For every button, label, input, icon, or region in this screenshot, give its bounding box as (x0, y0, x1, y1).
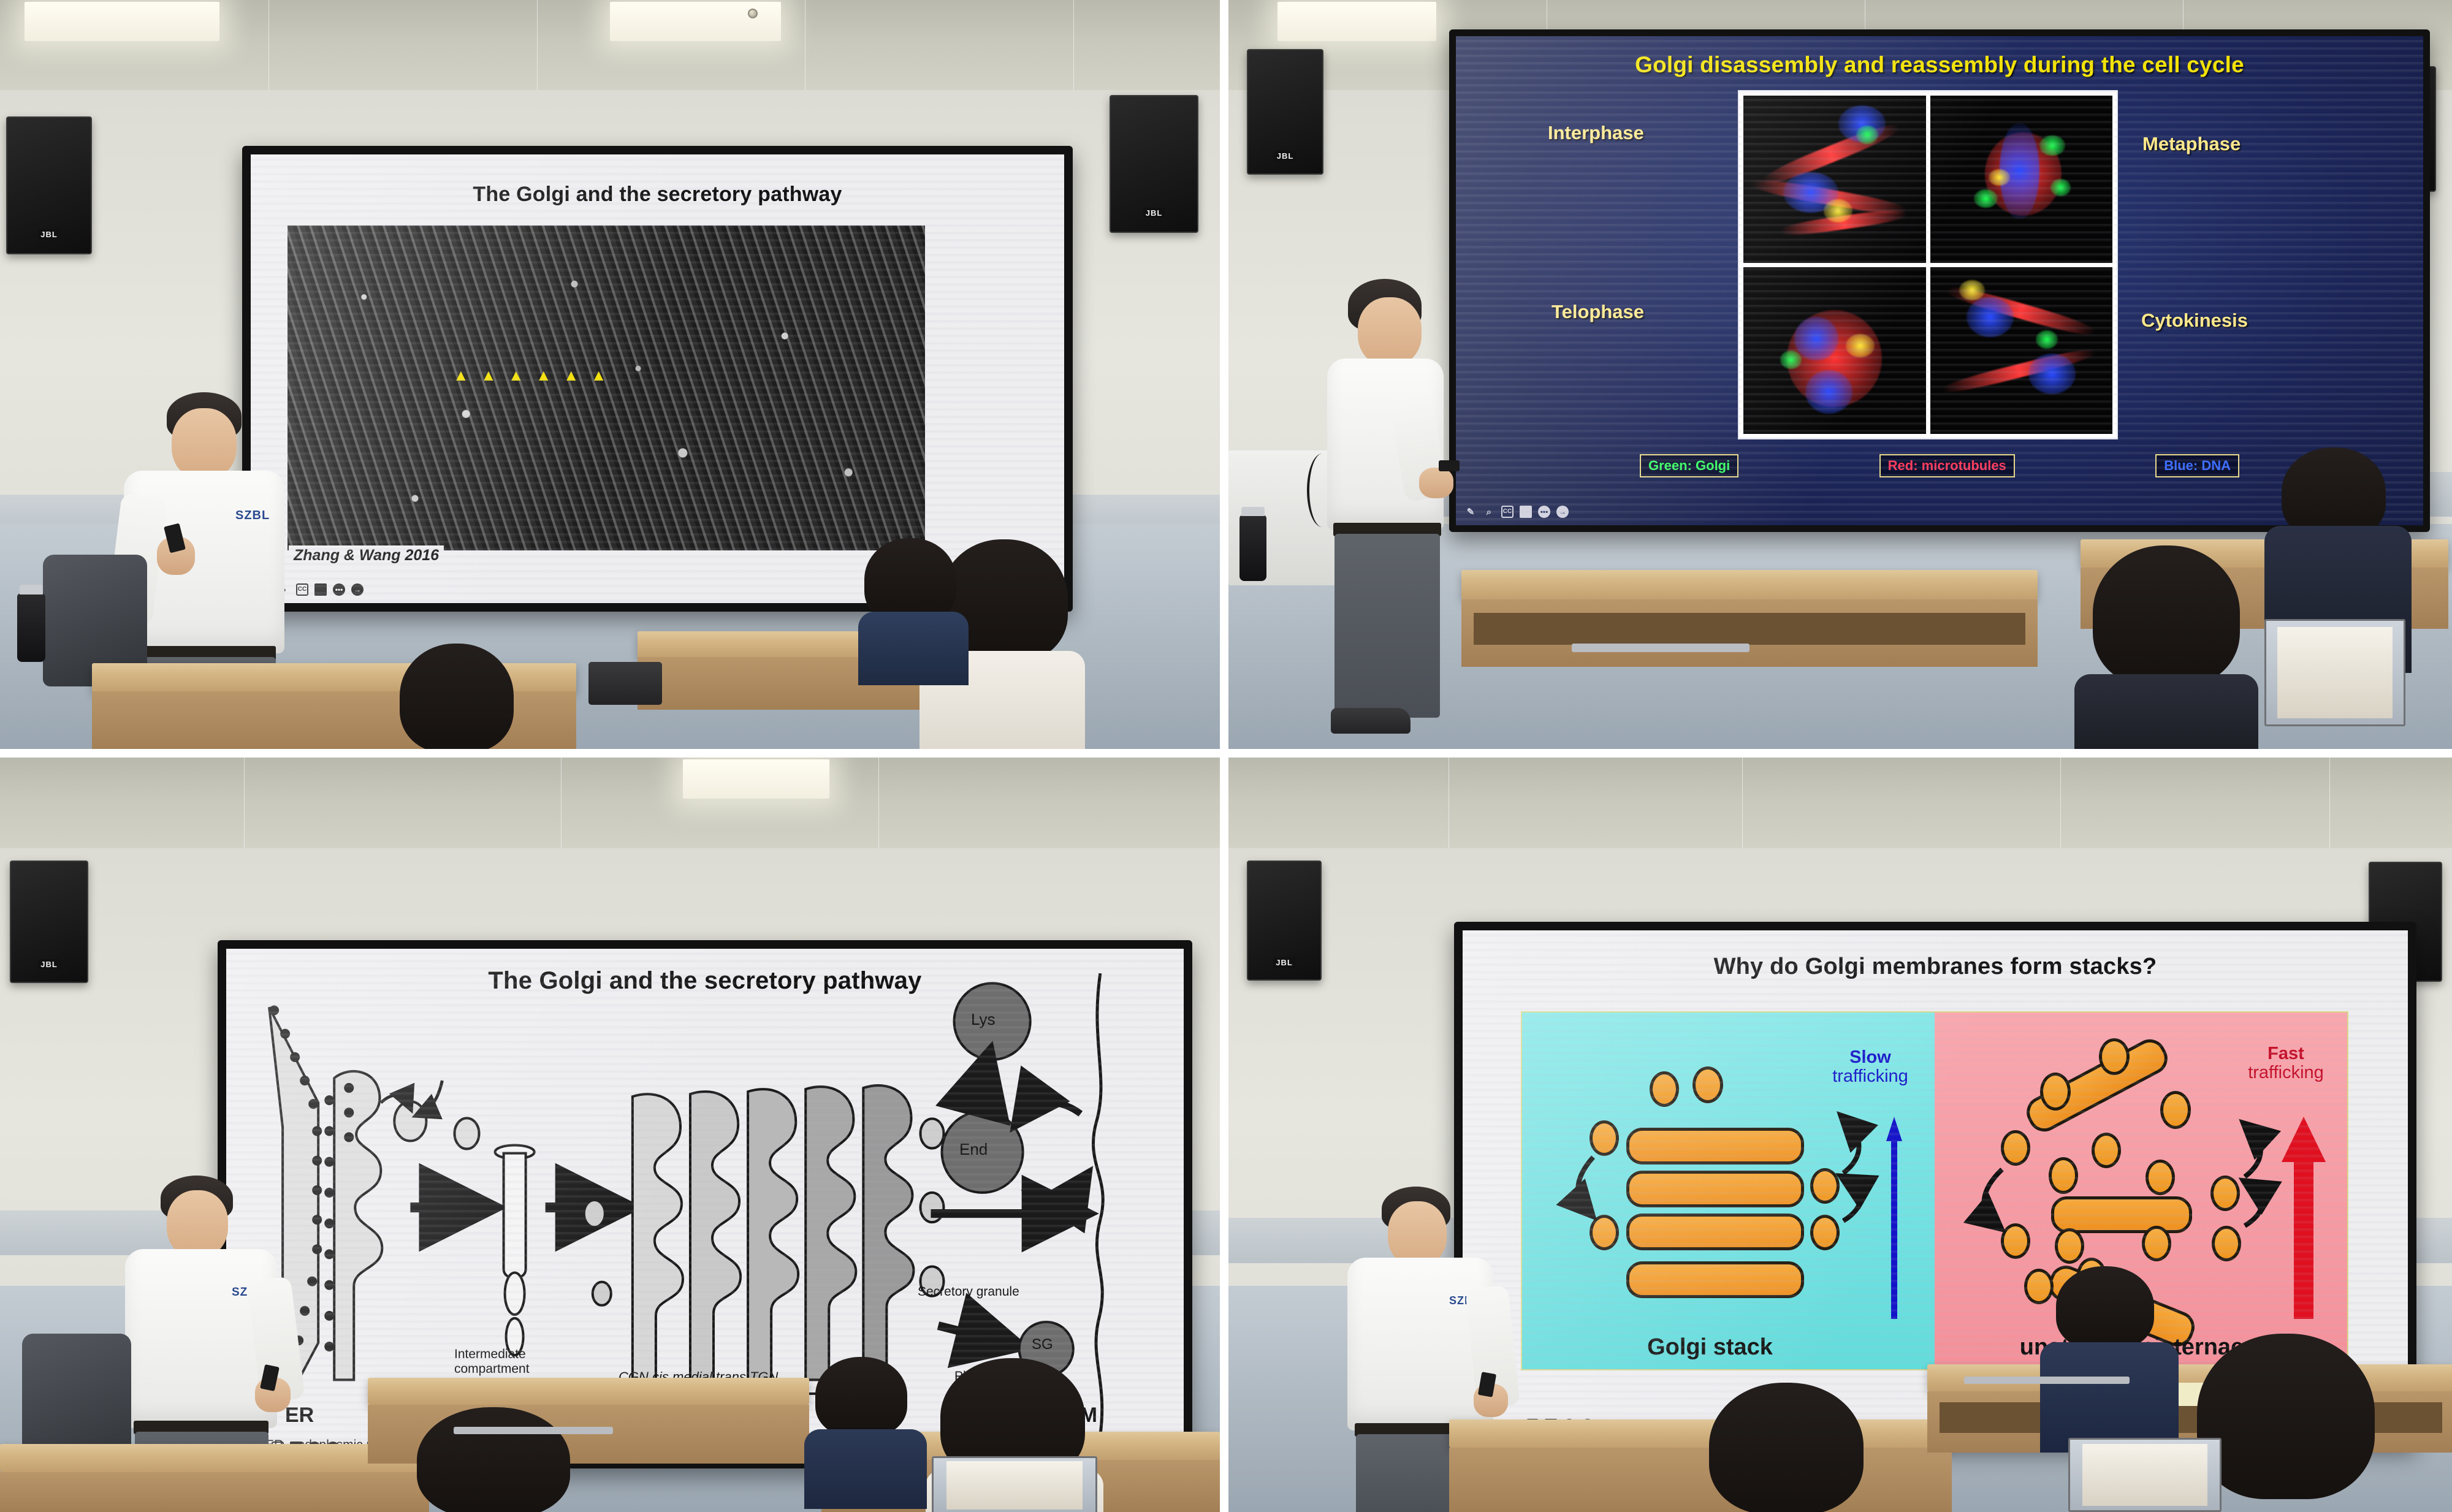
laptop-bl[interactable] (932, 1456, 1097, 1512)
student-hair (2093, 545, 2240, 686)
slide-title-tl: The Golgi and the secretory pathway (251, 183, 1064, 207)
presenter-tr (1299, 279, 1471, 745)
speaker-right-tl: JBL (1110, 95, 1198, 233)
student-br-3 (2044, 1266, 2179, 1450)
micrograph-metaphase (1930, 96, 2113, 263)
phase-label-cytokinesis: Cytokinesis (2141, 310, 2248, 332)
student-body (858, 612, 969, 685)
chair-frame-tr (1572, 644, 1750, 652)
fast-label-line2: trafficking (2222, 1063, 2347, 1082)
presenter-head (167, 1190, 228, 1258)
student-bl-1 (405, 1407, 582, 1512)
fast-label-line1: Fast (2222, 1044, 2347, 1063)
ceiling-bl (0, 758, 1220, 856)
student-br-1 (1694, 1383, 1878, 1512)
laptop-document (2082, 1444, 2208, 1506)
gutter-horizontal (0, 749, 2452, 758)
more-options-icon[interactable]: ••• (333, 583, 345, 596)
student-hair (1709, 1383, 1864, 1512)
laptop-br[interactable] (2068, 1438, 2222, 1512)
student-bl-3 (809, 1357, 926, 1498)
label-secretory-granule-abbr: SG (1032, 1336, 1053, 1353)
panel-top-right: JBL JBL Golgi disassembly and reassembly… (1228, 0, 2452, 749)
presenter-head (1388, 1201, 1447, 1266)
more-options-icon[interactable]: ••• (1538, 506, 1550, 518)
ceiling-tl (0, 0, 1220, 97)
student-tr-1 (2074, 545, 2258, 749)
legend-green-golgi: Green: Golgi (1640, 454, 1738, 477)
speaker-brand-label: JBL (38, 959, 60, 970)
student-body (804, 1429, 927, 1509)
gutter-vertical-bottom (1220, 758, 1228, 1512)
front-desk-bl (0, 1444, 429, 1472)
chair-frame-bl (454, 1427, 613, 1434)
student-body (2040, 1342, 2179, 1453)
water-bottle-tr (1239, 515, 1266, 581)
laptop-tr[interactable] (2264, 619, 2405, 726)
front-desk-tr (1461, 570, 2038, 599)
micrograph-cytokinesis (1930, 267, 2113, 435)
student-tl-1 (386, 644, 527, 749)
label-secretory-granule: Secretory granule (918, 1285, 1019, 1299)
panel-top-left: JBL JBL The Golgi and the secretory path… (0, 0, 1220, 749)
golgi-stack-panel: Slow trafficking Golgi stack (1522, 1012, 1935, 1369)
student-hair (815, 1357, 907, 1437)
mid-desk-bl (368, 1378, 809, 1405)
ceiling-br (1228, 758, 2452, 856)
photo-collage: JBL JBL The Golgi and the secretory path… (0, 0, 2452, 1512)
presenter-head (1358, 297, 1422, 366)
phase-label-interphase: Interphase (1548, 122, 1644, 144)
micrograph-interphase (1743, 96, 1926, 263)
speaker-left-br: JBL (1247, 860, 1322, 981)
panel-bottom-left: JBL The Golgi and the secretory pathway (0, 758, 1220, 1512)
speaker-left-tr: JBL (1247, 49, 1323, 175)
presenter-legs (1335, 534, 1440, 718)
panel-bottom-right: JBL JBL Why do Golgi membranes form stac… (1228, 758, 2452, 1512)
speaker-left-tl: JBL (6, 116, 92, 254)
desk-shelf-tr (1474, 613, 2025, 645)
student-hair (417, 1407, 570, 1512)
phase-label-telophase: Telophase (1552, 301, 1644, 323)
student-tl-3 (864, 532, 969, 655)
label-intermediate-compartment: Intermediate compartment (454, 1347, 577, 1377)
micrograph-telophase (1743, 267, 1926, 435)
slide-title-br: Why do Golgi membranes form stacks? (1463, 954, 2408, 980)
stack-comparison-diagram: Slow trafficking Golgi stack (1521, 1011, 2348, 1370)
presenter-head (172, 408, 237, 479)
micrograph-grid (1738, 90, 2118, 439)
chair-frame-br (1964, 1377, 2130, 1384)
slide-title-tr: Golgi disassembly and reassembly during … (1456, 52, 2423, 78)
electron-micrograph-image (287, 226, 925, 550)
laptop-document (2277, 627, 2393, 718)
front-desk-apron-bl (0, 1472, 429, 1512)
gutter-vertical-top (1220, 0, 1228, 749)
presentation-clicker[interactable] (1439, 460, 1460, 471)
speaker-left-bl: JBL (10, 860, 88, 983)
micrograph-arrow-annotations: ▲ ▲ ▲ ▲ ▲ ▲ (453, 366, 611, 385)
next-slide-icon[interactable]: → (1556, 506, 1569, 518)
fast-trafficking-label: Fast trafficking (2222, 1044, 2347, 1083)
speaker-brand-label: JBL (1274, 151, 1296, 161)
presenter-shirt-logo: SZBL (235, 509, 270, 523)
chair-tl (588, 662, 662, 705)
label-lysosome: Lys (971, 1010, 996, 1029)
slow-trafficking-label: Slow trafficking (1809, 1048, 1932, 1087)
fast-trafficking-arrow (2282, 1117, 2326, 1319)
bottle-cap (20, 585, 43, 595)
cc-icon[interactable]: CC (1501, 506, 1513, 518)
bottle-cap (1241, 507, 1265, 516)
label-endosome: End (959, 1140, 988, 1159)
water-bottle-tl (17, 593, 45, 662)
slow-label-line2: trafficking (1809, 1067, 1932, 1086)
phase-label-metaphase: Metaphase (2142, 133, 2241, 155)
student-body (2074, 674, 2258, 749)
golgi-stack-caption: Golgi stack (1522, 1334, 1935, 1361)
student-hair (2056, 1266, 2154, 1350)
slow-label-line1: Slow (1809, 1048, 1932, 1067)
next-slide-icon[interactable]: → (351, 583, 364, 596)
legend-blue-dna: Blue: DNA (2155, 454, 2239, 477)
blackscreen-icon[interactable] (1520, 506, 1532, 518)
sprinkler-icon (748, 9, 758, 18)
laptop-document (946, 1461, 1083, 1509)
student-hair (864, 538, 956, 624)
speaker-brand-label: JBL (1143, 208, 1165, 218)
legend-red-microtubules: Red: microtubules (1879, 454, 2015, 477)
presenter-toolbar-tr[interactable]: ✎ ⌕ CC ••• → (1464, 506, 1569, 518)
student-hair (400, 644, 514, 749)
presenter-shoe (1331, 708, 1411, 734)
presenter-hand (1419, 468, 1453, 498)
color-legend-row: Green: Golgi Red: microtubules Blue: DNA (1640, 454, 2239, 477)
magnifier-icon[interactable]: ⌕ (1483, 506, 1495, 518)
speaker-brand-label: JBL (38, 229, 60, 240)
speaker-brand-label: JBL (1273, 957, 1295, 968)
slow-trafficking-arrow (1886, 1117, 1902, 1319)
student-hair (2197, 1334, 2375, 1499)
